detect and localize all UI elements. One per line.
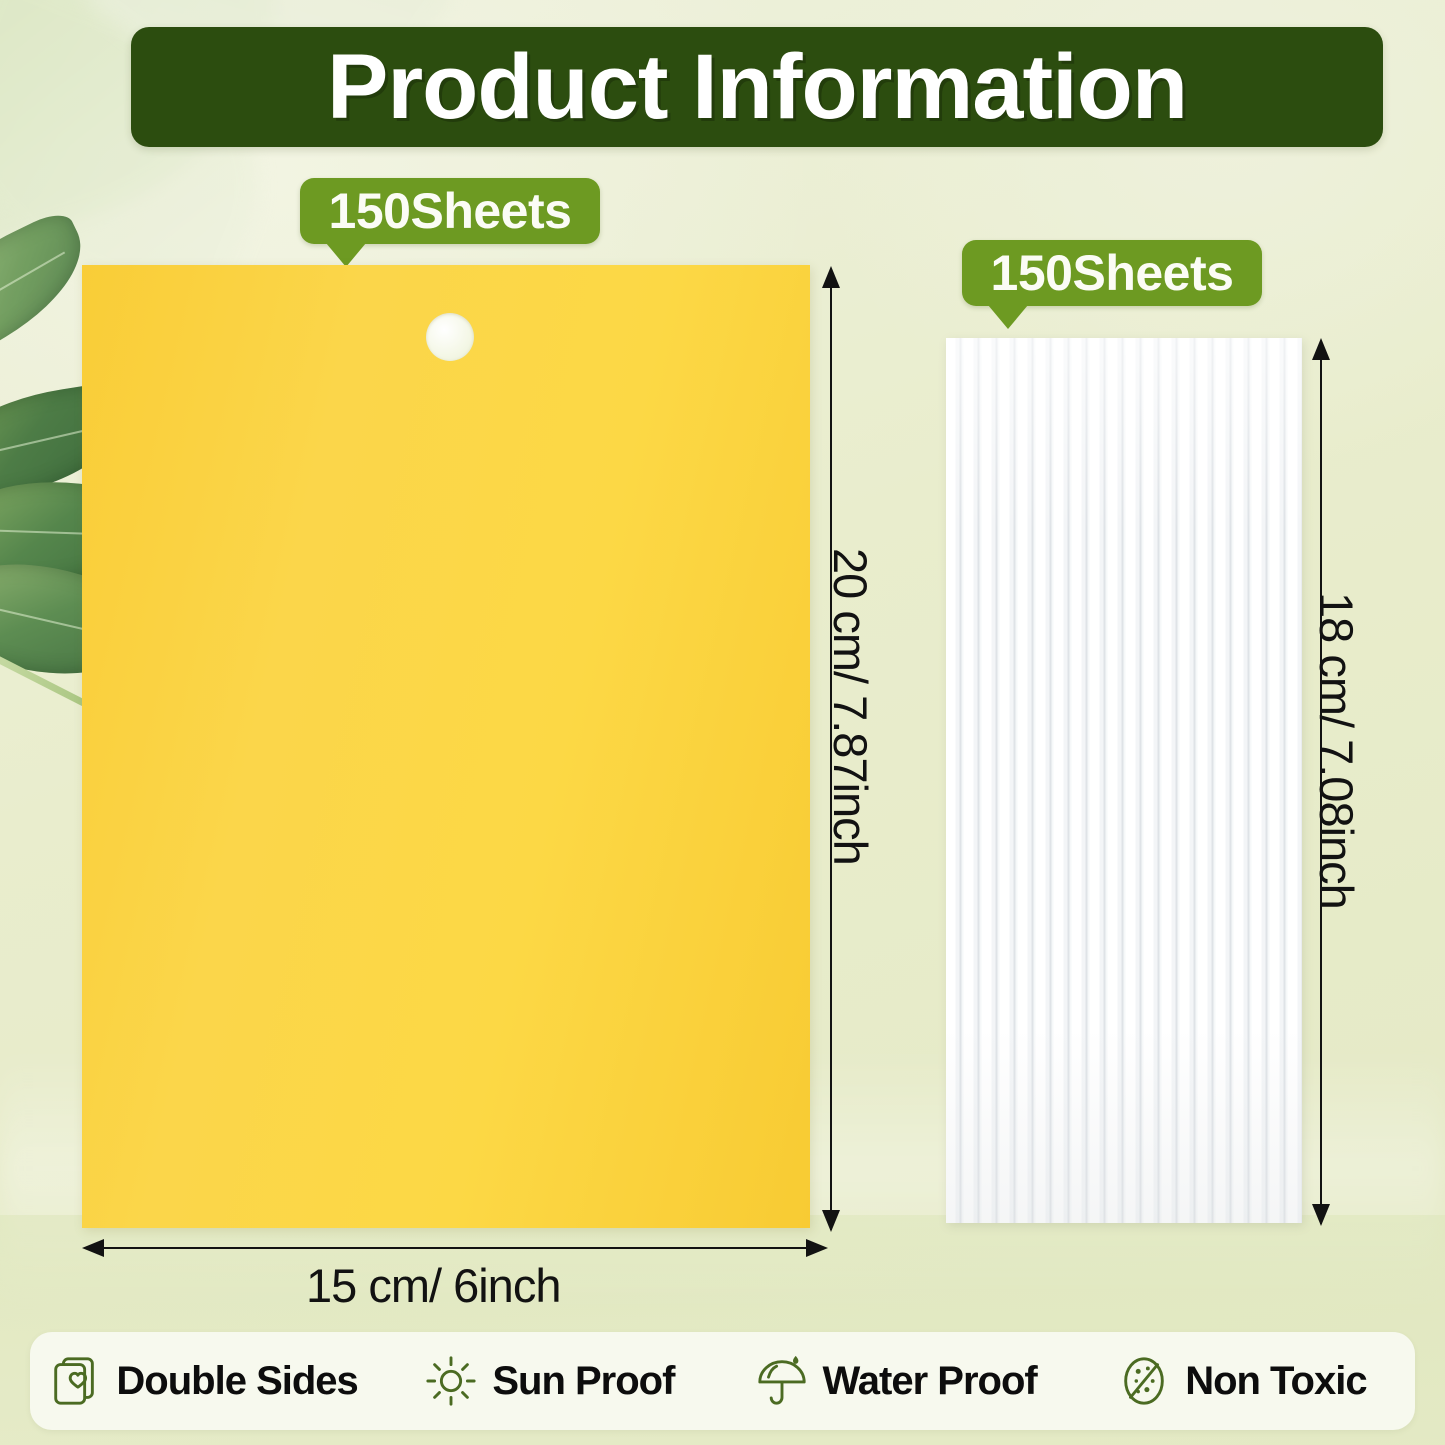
stakes-height-arrow-top <box>1312 338 1330 360</box>
feature-sun-proof-label: Sun Proof <box>492 1359 674 1404</box>
badge-sheets-stakes: 150Sheets <box>962 240 1262 306</box>
card-height-arrow-top <box>822 266 840 288</box>
sun-icon <box>424 1354 478 1408</box>
badge-sheets-stakes-label: 150Sheets <box>991 248 1234 298</box>
feature-sun-proof: Sun Proof <box>376 1354 722 1408</box>
card-width-arrow-right <box>806 1239 828 1257</box>
badge-sheets-card-label: 150Sheets <box>329 186 572 236</box>
feature-non-toxic-label: Non Toxic <box>1185 1359 1366 1404</box>
stakes-height-label: 18 cm/ 7.08inch <box>1309 592 1364 909</box>
card-width-label: 15 cm/ 6inch <box>306 1258 560 1313</box>
card-height-label: 20 cm/ 7.87inch <box>823 548 878 865</box>
non-toxic-icon <box>1117 1354 1171 1408</box>
punch-hole <box>426 313 474 361</box>
feature-water-proof-label: Water Proof <box>823 1359 1037 1404</box>
feature-double-sides-label: Double Sides <box>116 1359 357 1404</box>
white-plastic-stakes <box>946 338 1302 1223</box>
feature-non-toxic: Non Toxic <box>1069 1354 1415 1408</box>
card-height-arrow-bottom <box>822 1210 840 1232</box>
badge-pointer-tail <box>988 305 1028 329</box>
card-width-dimension-line <box>104 1247 806 1249</box>
badge-pointer-tail <box>326 243 366 267</box>
infographic-canvas: Product Information 150Sheets 150Sheets … <box>0 0 1445 1445</box>
feature-bar: Double Sides Sun Proof Water Proof <box>30 1332 1415 1430</box>
page-title: Product Information <box>327 41 1187 133</box>
umbrella-icon <box>755 1354 809 1408</box>
title-banner: Product Information <box>131 27 1383 147</box>
feature-water-proof: Water Proof <box>723 1354 1069 1408</box>
card-width-arrow-left <box>82 1239 104 1257</box>
feature-double-sides: Double Sides <box>30 1354 376 1408</box>
double-sided-cards-icon <box>48 1354 102 1408</box>
badge-sheets-card: 150Sheets <box>300 178 600 244</box>
yellow-sticky-trap-card <box>82 265 810 1228</box>
stakes-height-arrow-bottom <box>1312 1204 1330 1226</box>
stakes-highlight <box>946 338 1302 1223</box>
